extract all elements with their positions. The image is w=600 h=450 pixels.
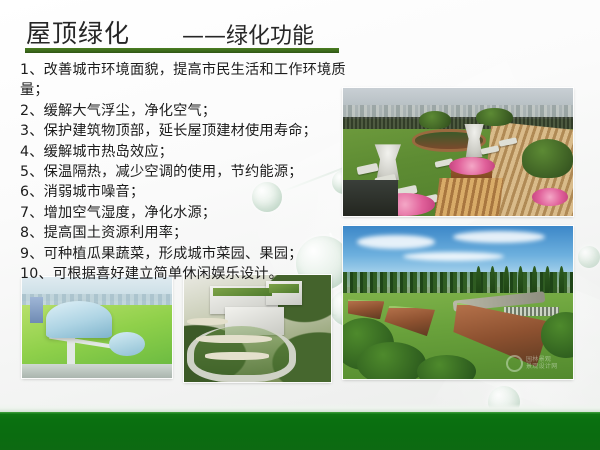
concrete-slab — [343, 180, 398, 216]
garden-path — [196, 335, 272, 344]
tower-building — [30, 297, 44, 323]
dome-structure — [46, 301, 112, 337]
slide-title: 屋顶绿化 ——绿化功能 — [26, 10, 346, 50]
title-main-text: 屋顶绿化 — [26, 14, 130, 50]
shrub — [522, 139, 573, 177]
green-roof-area — [213, 288, 272, 297]
poplar-tree — [518, 266, 523, 297]
title-subtitle-text: ——绿化功能 — [182, 18, 314, 50]
watermark: 园林景观 景观设计网 — [506, 352, 568, 374]
benefits-list: 1、改善城市环境面貌，提高市民生活和工作环境质量； 2、缓解大气浮尘，净化空气；… — [20, 60, 350, 284]
list-item: 9、可种植瓜果蔬菜，形成城市菜园、果园； — [20, 244, 350, 264]
watermark-line-2: 景观设计网 — [526, 363, 558, 370]
green-roof-area — [269, 284, 298, 294]
list-item: 4、缓解城市热岛效应； — [20, 142, 350, 162]
photo-dome-building — [22, 277, 172, 378]
shrub — [476, 108, 513, 126]
list-item: 5、保温隔热，减少空调的使用，节约能源； — [20, 162, 350, 182]
photo-landscape-park: 园林景观 景观设计网 — [343, 226, 573, 379]
footer-green-band — [0, 412, 600, 450]
garden-path — [187, 318, 228, 325]
garden-path — [205, 352, 270, 359]
wooden-boardwalk — [435, 178, 504, 216]
photo-terraced-roof — [184, 275, 331, 382]
shrub-mass — [357, 342, 426, 379]
circular-pavilion — [109, 332, 145, 356]
list-item: 8、提高国土资源利用率； — [20, 223, 350, 243]
watermark-line-1: 园林景观 — [526, 356, 558, 363]
title-underline-bar — [25, 48, 339, 53]
pink-flower-cluster — [532, 188, 569, 206]
cloud — [453, 231, 545, 243]
footer-band-highlight — [0, 412, 600, 414]
list-item: 7、增加空气湿度，净化水源； — [20, 203, 350, 223]
list-item: 2、缓解大气浮尘，净化空气； — [20, 101, 350, 121]
circle-leaf-logo-icon — [506, 355, 523, 372]
cloud — [357, 235, 435, 249]
shrub — [419, 111, 451, 129]
plaza-foreground — [22, 364, 172, 378]
photo-rooftop-garden — [343, 88, 573, 216]
pink-flower-cluster — [449, 157, 495, 175]
list-item: 1、改善城市环境面貌，提高市民生活和工作环境质量； — [20, 60, 350, 101]
poplar-tree — [504, 266, 509, 297]
list-item: 6、消弱城市噪音； — [20, 182, 350, 202]
list-item: 10、可根据喜好建立简单休闲娱乐设计。 — [20, 264, 350, 284]
molecule-bubble-7 — [578, 246, 600, 268]
list-item: 3、保护建筑物顶部，延长屋顶建材使用寿命； — [20, 121, 350, 141]
